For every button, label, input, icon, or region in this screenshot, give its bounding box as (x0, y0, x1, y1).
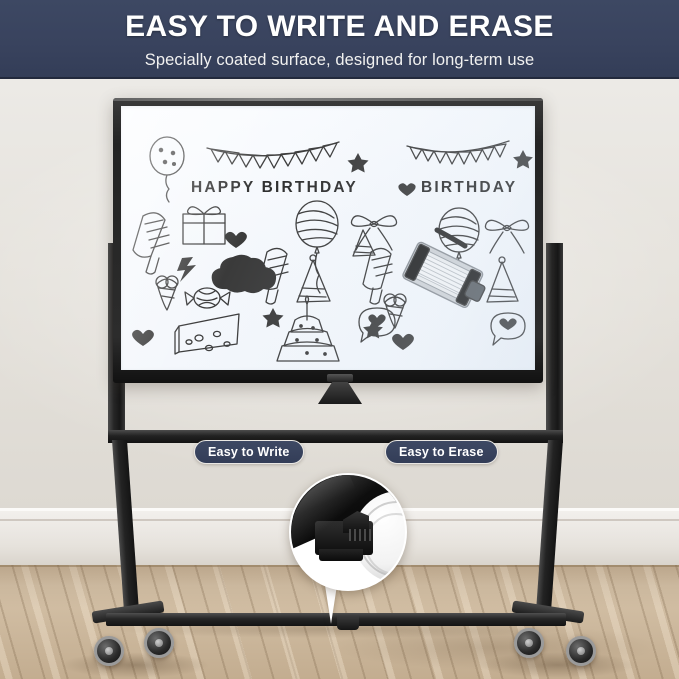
banner-bottom-edge (0, 77, 679, 79)
stand-crossbar (108, 430, 563, 443)
caster-hub (525, 639, 533, 647)
caster-hub (155, 639, 163, 647)
whiteboard-frame-highlight (113, 98, 543, 101)
badge-easy-to-write: Easy to Write (194, 440, 304, 464)
banner-subtitle: Specially coated surface, designed for l… (145, 51, 535, 70)
stand-post-right (546, 243, 563, 443)
caster-hub (105, 647, 113, 655)
header-banner: EASY TO WRITE AND ERASE Specially coated… (0, 0, 679, 79)
product-feature-image: HAPPY BIRTHDAY (0, 0, 679, 679)
badge-label: Easy to Write (208, 445, 290, 459)
caster-shadow-left (60, 652, 210, 678)
badge-label: Easy to Erase (399, 445, 484, 459)
caster-hub (577, 647, 585, 655)
banner-title: EASY TO WRITE AND ERASE (125, 12, 554, 42)
caster-lock-callout (289, 473, 407, 591)
badge-easy-to-erase: Easy to Erase (385, 440, 498, 464)
caster-shadow-right (478, 652, 638, 678)
whiteboard-glare (121, 106, 535, 370)
board-pivot-cap (327, 374, 353, 382)
callout-glass-glare (291, 475, 407, 591)
